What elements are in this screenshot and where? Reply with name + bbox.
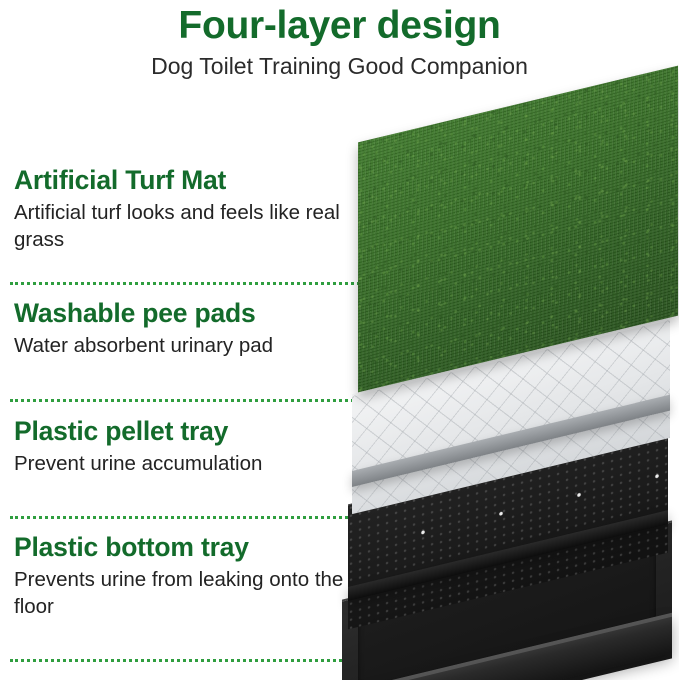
feature-title: Plastic pellet tray: [14, 415, 364, 447]
product-infographic: Four-layer design Dog Toilet Training Go…: [0, 0, 679, 680]
feature-block-plastic-bottom-tray: Plastic bottom tray Prevents urine from …: [14, 531, 364, 620]
feature-block-washable-pee-pads: Washable pee pads Water absorbent urinar…: [14, 297, 364, 359]
feature-title: Washable pee pads: [14, 297, 364, 329]
product-image: [330, 100, 679, 680]
turf-mat-face: [358, 66, 678, 393]
turf-texture: [358, 66, 678, 393]
feature-block-artificial-turf-mat: Artificial Turf Mat Artificial turf look…: [14, 164, 364, 253]
feature-description: Prevent urine accumulation: [14, 450, 364, 477]
page-subtitle: Dog Toilet Training Good Companion: [0, 52, 679, 80]
feature-description: Prevents urine from leaking onto the flo…: [14, 566, 364, 620]
page-title: Four-layer design: [0, 4, 679, 48]
feature-block-plastic-pellet-tray: Plastic pellet tray Prevent urine accumu…: [14, 415, 364, 477]
feature-title: Artificial Turf Mat: [14, 164, 364, 196]
feature-description: Water absorbent urinary pad: [14, 332, 364, 359]
feature-description: Artificial turf looks and feels like rea…: [14, 199, 364, 253]
feature-title: Plastic bottom tray: [14, 531, 364, 563]
product-layer-artificial-turf-mat: [358, 104, 679, 374]
